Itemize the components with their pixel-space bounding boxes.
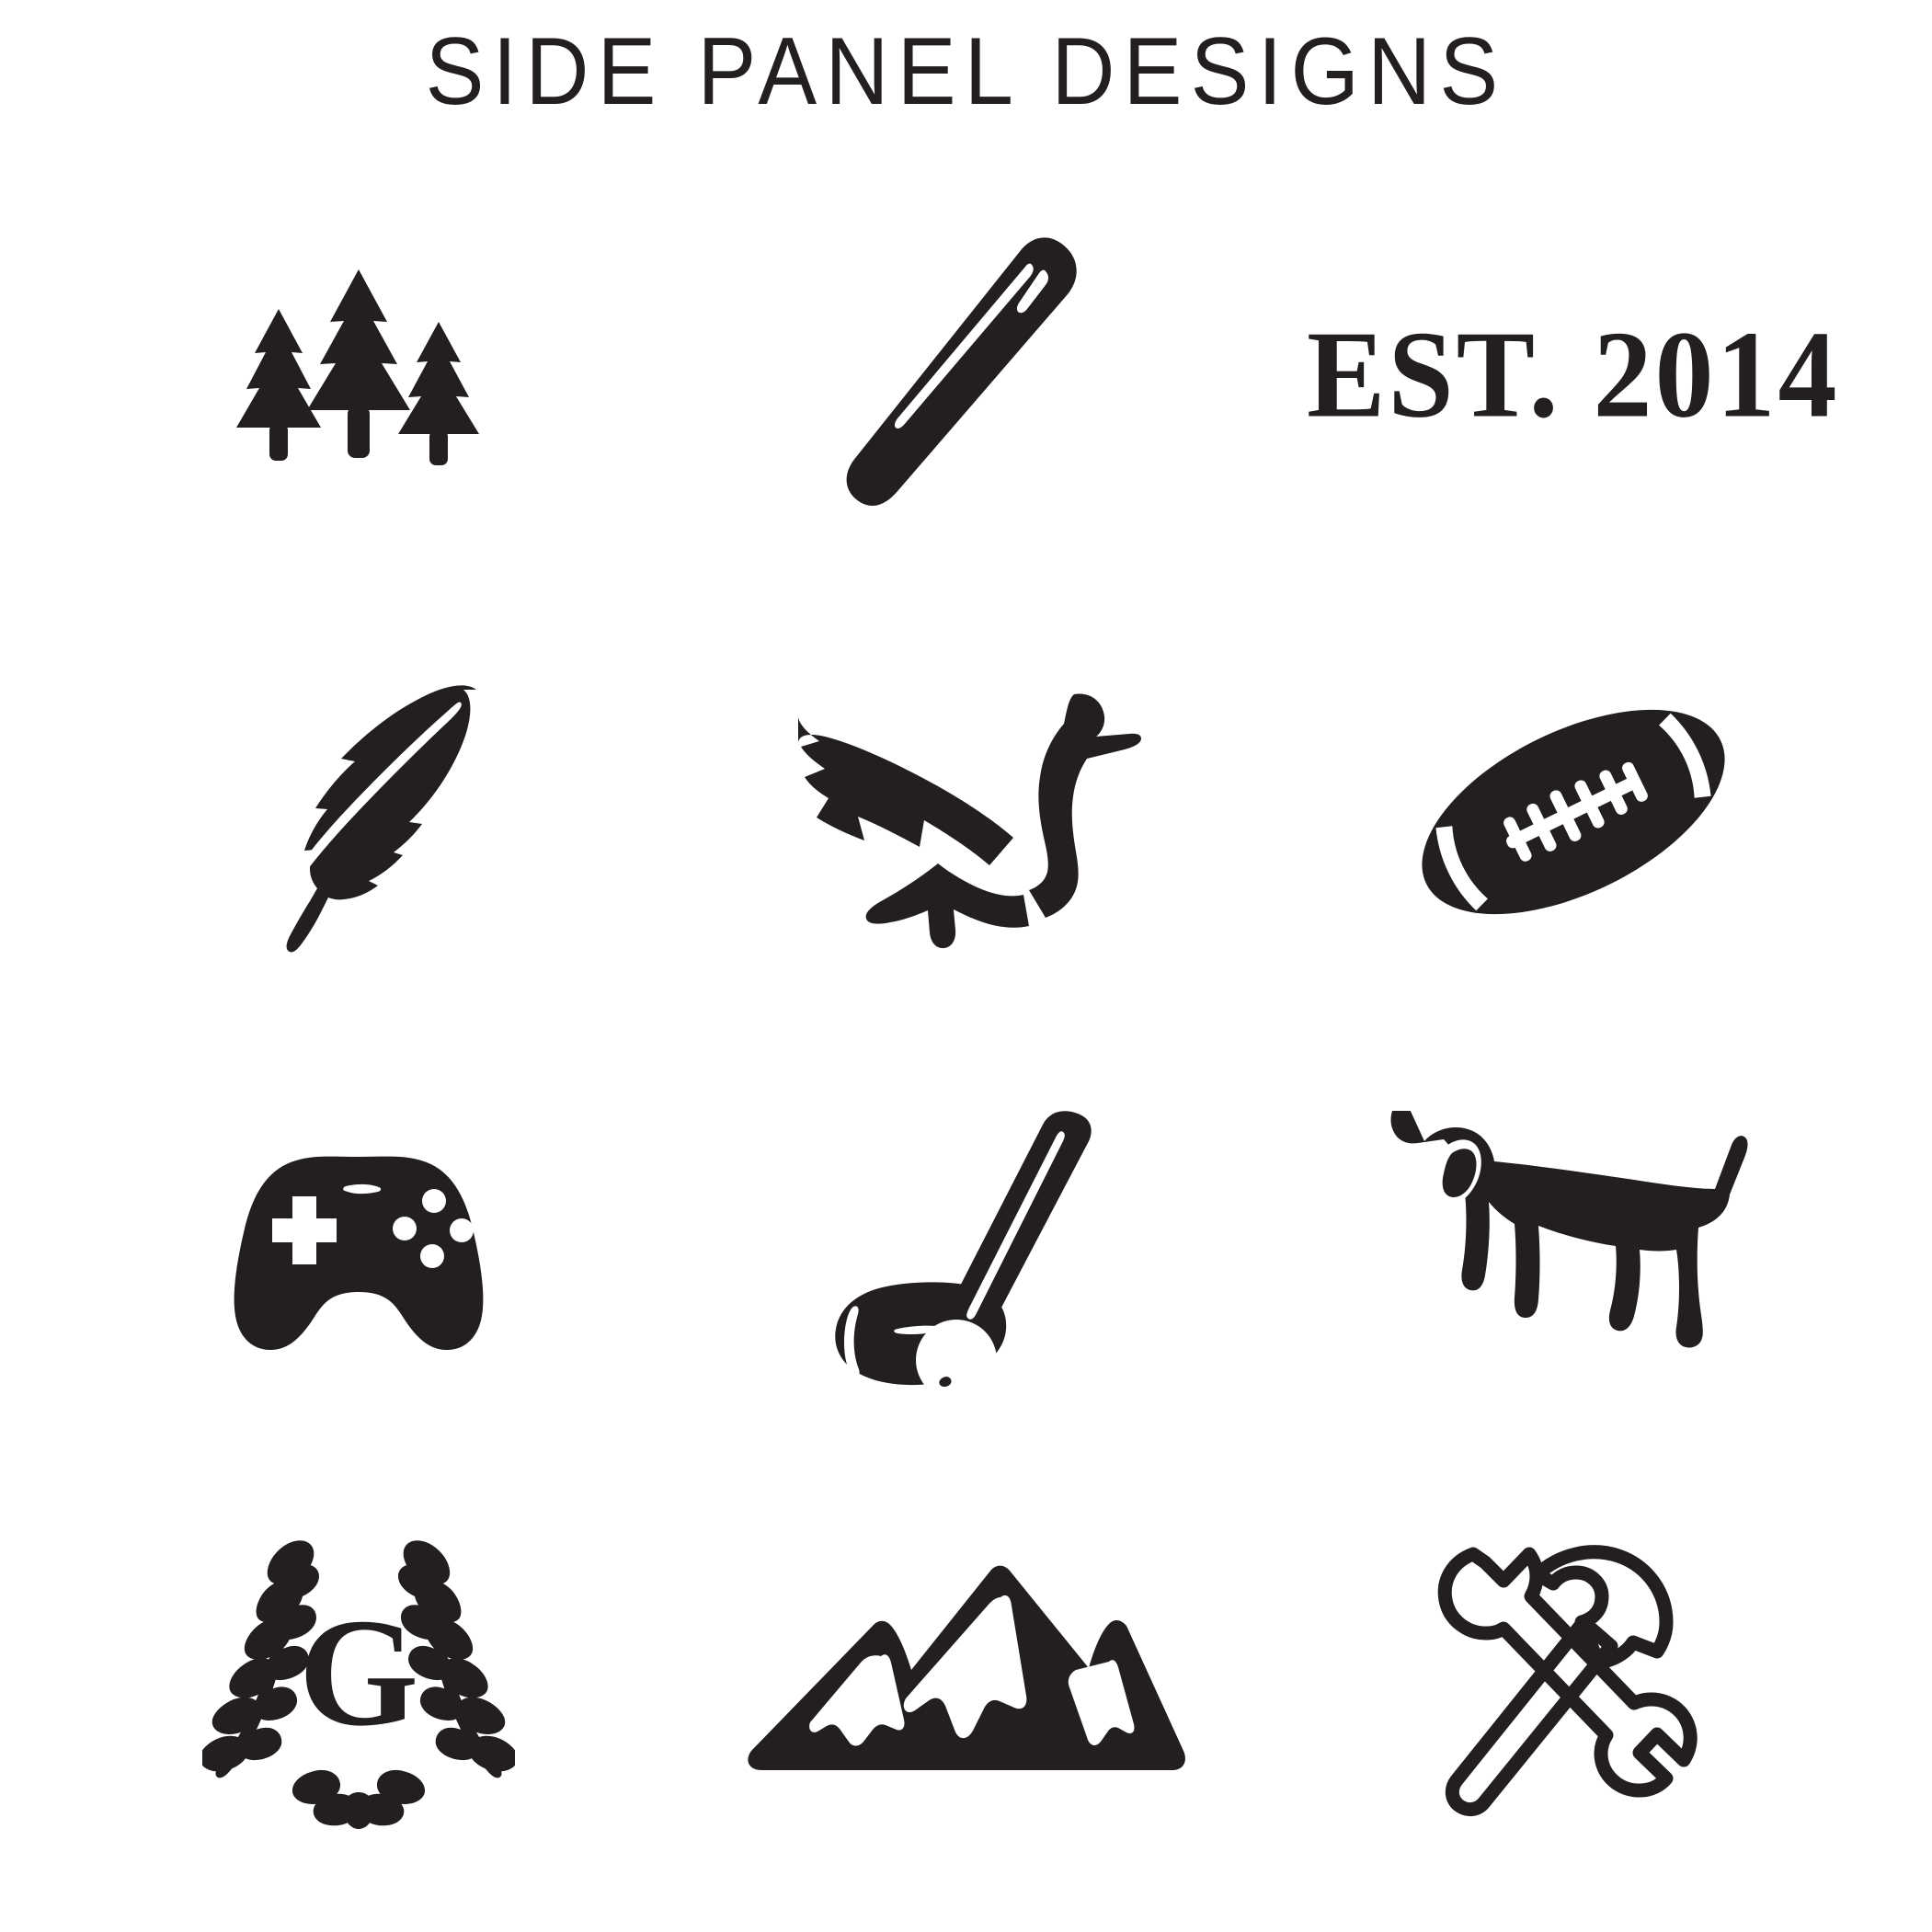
icon-cell-football[interactable] (1270, 593, 1877, 1030)
icon-cell-est-year[interactable]: EST. 2014 (1270, 156, 1877, 593)
icon-cell-dog[interactable] (1270, 1030, 1877, 1467)
icon-cell-mountains[interactable] (662, 1467, 1269, 1903)
page-title: SIDE PANEL DESIGNS (77, 22, 1855, 122)
icon-cell-duck[interactable] (662, 593, 1269, 1030)
icon-cell-baseball-bat[interactable] (662, 156, 1269, 593)
hammer-wrench-icon (1412, 1534, 1734, 1837)
monogram-letter: G (299, 1587, 419, 1758)
icon-cell-golf[interactable] (662, 1030, 1269, 1467)
icon-grid: EST. 2014 (55, 156, 1877, 1903)
flying-duck-icon (782, 674, 1149, 950)
golf-club-ball-icon (800, 1097, 1131, 1400)
icon-cell-feather[interactable] (55, 593, 662, 1030)
icon-cell-hammer-wrench[interactable] (1270, 1467, 1877, 1903)
football-icon (1389, 674, 1757, 950)
baseball-bat-icon (814, 223, 1117, 527)
design-sheet: SIDE PANEL DESIGNS (0, 0, 1932, 1932)
icon-cell-game-controller[interactable] (55, 1030, 662, 1467)
icon-cell-pine-trees[interactable] (55, 156, 662, 593)
dog-icon (1380, 1111, 1766, 1387)
icon-cell-laurel-monogram[interactable]: G (55, 1467, 662, 1903)
laurel-wreath-monogram-icon: G (202, 1529, 515, 1842)
feather-quill-icon (207, 660, 510, 964)
game-controller-icon (193, 1129, 524, 1368)
pine-trees-icon (207, 237, 510, 513)
mountains-icon (745, 1548, 1186, 1823)
est-year-text: EST. 2014 (1307, 303, 1839, 447)
title-bar: SIDE PANEL DESIGNS (0, 0, 1932, 122)
